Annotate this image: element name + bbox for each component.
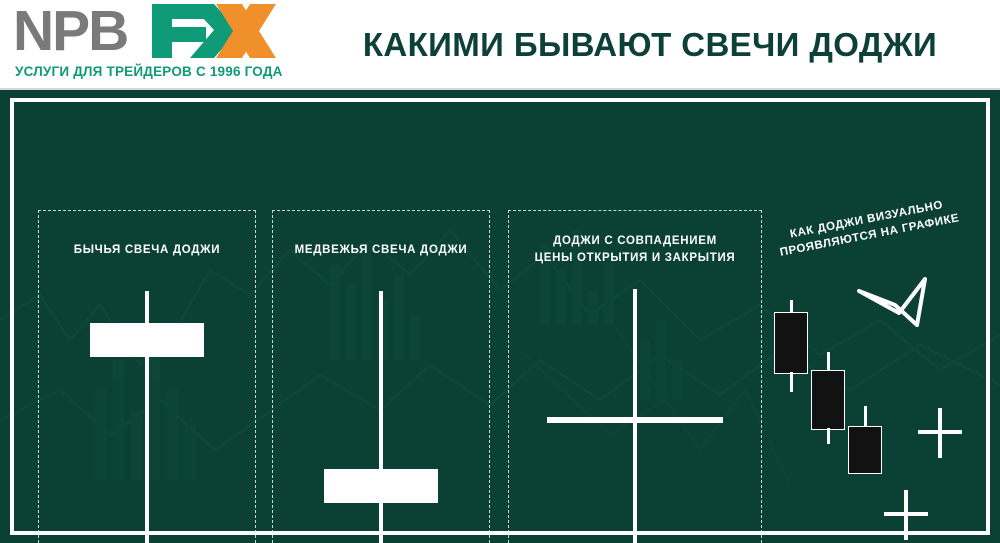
mini-candle-2 <box>811 352 845 444</box>
panel-neutral-doji[interactable]: ДОДЖИ С СОВПАДЕНИЕМ ЦЕНЫ ОТКРЫТИЯ И ЗАКР… <box>508 210 762 543</box>
logo-wordmark: NPB <box>10 4 285 62</box>
infographic-root: NPB УСЛУГИ ДЛЯ ТРЕЙДЕРОВ С 1996 ГОДА КАК… <box>0 0 1000 543</box>
panel-bearish-doji[interactable]: МЕДВЕЖЬЯ СВЕЧА ДОДЖИ <box>272 210 490 543</box>
mini-doji-2-body <box>918 430 962 434</box>
mini-candle-1-body <box>774 312 808 374</box>
panel-bullish-doji[interactable]: БЫЧЬЯ СВЕЧА ДОДЖИ <box>38 210 256 543</box>
mini-candle-2-body <box>811 370 845 430</box>
mini-doji-1 <box>884 490 928 540</box>
page-title: КАКИМИ БЫВАЮТ СВЕЧИ ДОДЖИ <box>300 0 1000 90</box>
doji-neutral-body <box>547 417 723 423</box>
header-bar: NPB УСЛУГИ ДЛЯ ТРЕЙДЕРОВ С 1996 ГОДА КАК… <box>0 0 1000 90</box>
doji-bullish-body <box>90 323 204 357</box>
mini-candle-2-upper-wick <box>827 352 830 372</box>
logo-tagline: УСЛУГИ ДЛЯ ТРЕЙДЕРОВ С 1996 ГОДА <box>15 64 283 79</box>
doji-bullish-figure <box>145 211 149 543</box>
doji-neutral-figure <box>633 211 637 543</box>
mini-candle-3-body <box>848 426 882 474</box>
doji-bearish-body <box>324 469 438 503</box>
mini-candlestick-chart <box>762 200 990 530</box>
doji-bearish-wick <box>379 291 383 543</box>
mini-doji-2 <box>918 408 962 458</box>
doji-bearish-figure <box>379 211 383 543</box>
mini-candle-1-lower-wick <box>790 372 793 392</box>
mini-candle-2-lower-wick <box>827 428 830 444</box>
logo-text-npb: NPB <box>13 2 127 60</box>
content-stage: БЫЧЬЯ СВЕЧА ДОДЖИ МЕДВЕЖЬЯ СВЕЧА ДОДЖИ Д… <box>0 90 1000 543</box>
logo-fx-mark <box>150 2 280 60</box>
doji-neutral-wick <box>633 289 637 543</box>
mini-doji-1-body <box>884 512 928 516</box>
mini-candle-3 <box>848 406 882 474</box>
mini-candle-1 <box>774 300 808 392</box>
mini-candle-3-upper-wick <box>864 406 867 428</box>
brand-logo[interactable]: NPB УСЛУГИ ДЛЯ ТРЕЙДЕРОВ С 1996 ГОДА <box>10 4 290 86</box>
